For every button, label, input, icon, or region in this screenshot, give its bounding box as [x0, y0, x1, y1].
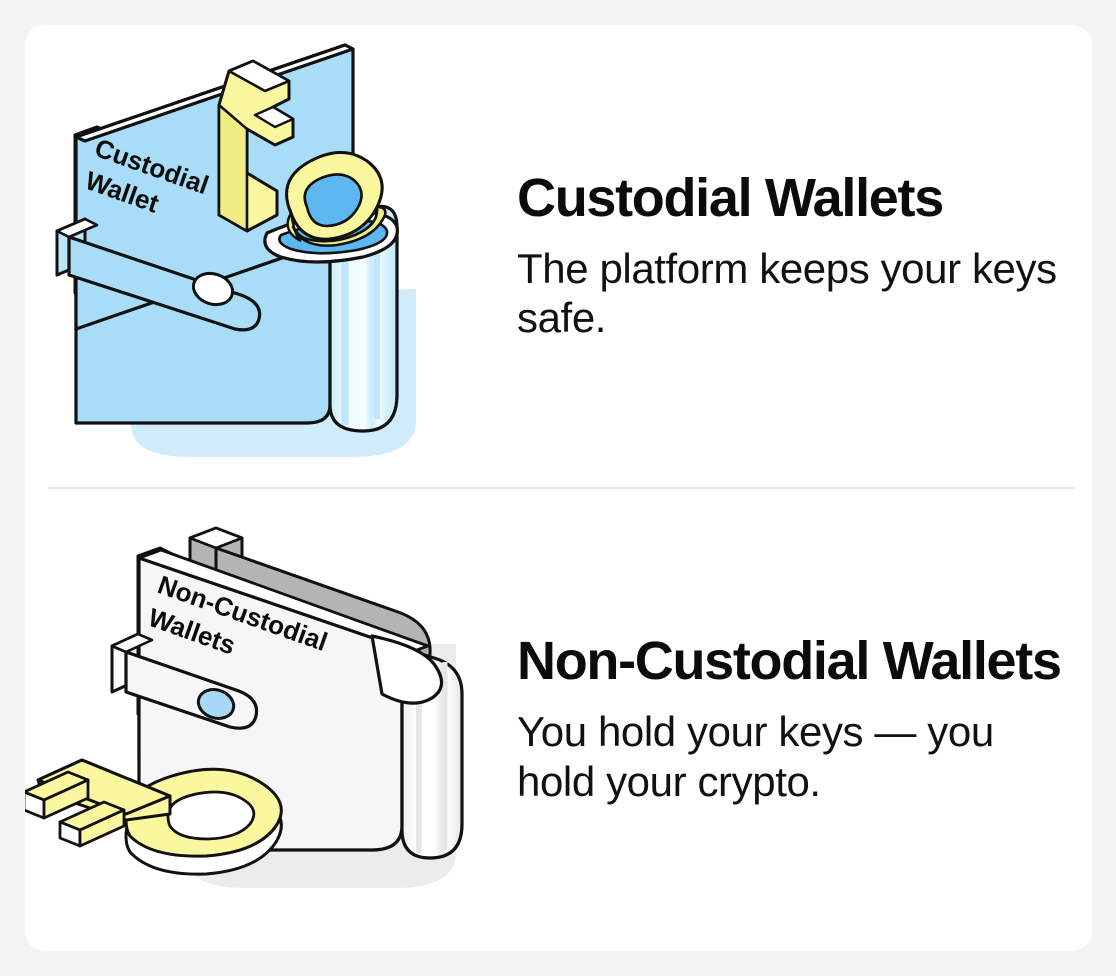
- non-custodial-text-cell: Non-Custodial Wallets You hold your keys…: [495, 633, 1092, 805]
- custodial-art-cell: Custodial Wallet: [25, 25, 495, 487]
- custodial-text-cell: Custodial Wallets The platform keeps you…: [495, 170, 1092, 342]
- wallet-types-card: Custodial Wallet Custodial Wallets The p…: [25, 25, 1092, 951]
- non-custodial-art-cell: Non-Custodial Wallets: [25, 488, 495, 951]
- custodial-description: The platform keeps your keys safe.: [517, 244, 1072, 342]
- page-title-non-custodial: Non-Custodial Wallets: [517, 633, 1072, 689]
- page-root: Custodial Wallet Custodial Wallets The p…: [0, 0, 1116, 976]
- page-title-custodial: Custodial Wallets: [517, 170, 1072, 226]
- section-non-custodial: Non-Custodial Wallets Non-Custodial Wall…: [25, 488, 1092, 951]
- non-custodial-wallet-illustration: Non-Custodial Wallets: [25, 508, 480, 918]
- custodial-wallet-illustration: Custodial Wallet: [45, 27, 465, 457]
- section-custodial: Custodial Wallet Custodial Wallets The p…: [25, 25, 1092, 487]
- non-custodial-description: You hold your keys — you hold your crypt…: [517, 707, 1072, 805]
